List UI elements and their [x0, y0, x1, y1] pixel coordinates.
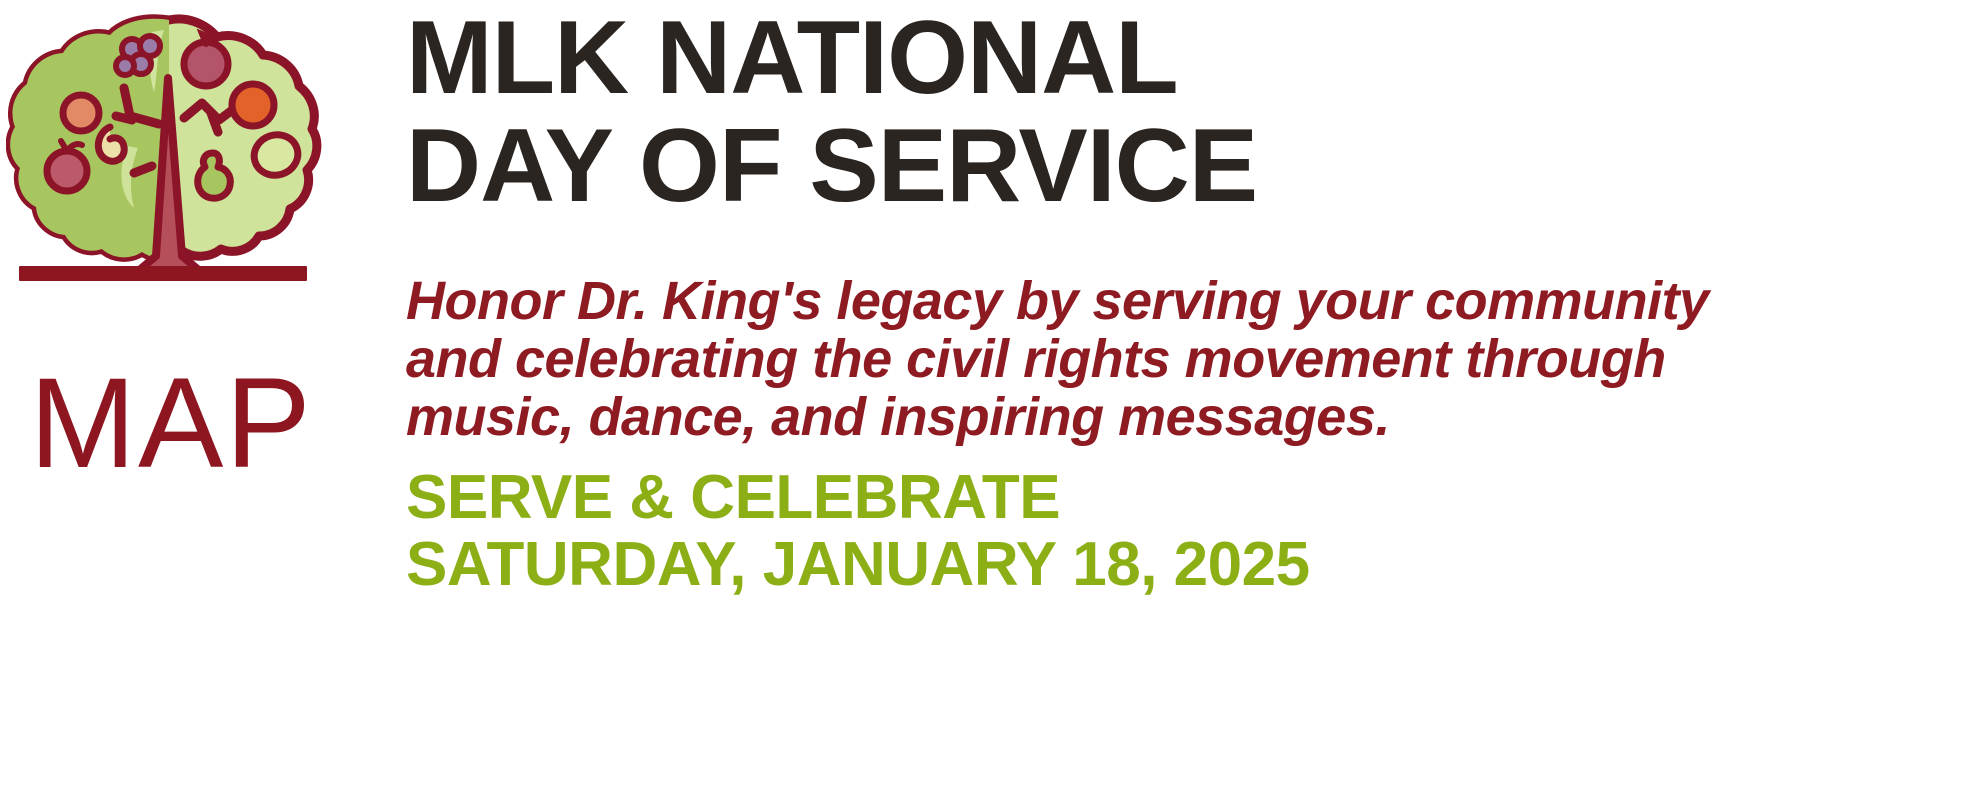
fruit-peach	[63, 95, 99, 131]
ground-line	[19, 266, 307, 281]
map-wordmark: MAP	[6, 360, 336, 488]
headline-line-1: MLK NATIONAL	[406, 8, 1178, 110]
tagline-line-1: Honor Dr. King's legacy by serving your …	[406, 272, 1709, 330]
fruit-orange	[232, 84, 274, 126]
headline-line-2: DAY OF SERVICE	[406, 116, 1257, 218]
mlk-day-of-service-banner: MAP MLK NATIONAL DAY OF SERVICE Honor Dr…	[0, 0, 1977, 785]
banner-text-column: MLK NATIONAL DAY OF SERVICE Honor Dr. Ki…	[406, 0, 1977, 785]
call-to-action-date: SATURDAY, JANUARY 18, 2025	[406, 533, 1310, 597]
tagline-line-2: and celebrating the civil rights movemen…	[406, 330, 1666, 388]
call-to-action-line-1: SERVE & CELEBRATE	[406, 466, 1060, 530]
map-logo: MAP	[6, 8, 336, 478]
tagline-line-3: music, dance, and inspiring messages.	[406, 388, 1390, 446]
map-tree-illustration	[6, 8, 336, 408]
